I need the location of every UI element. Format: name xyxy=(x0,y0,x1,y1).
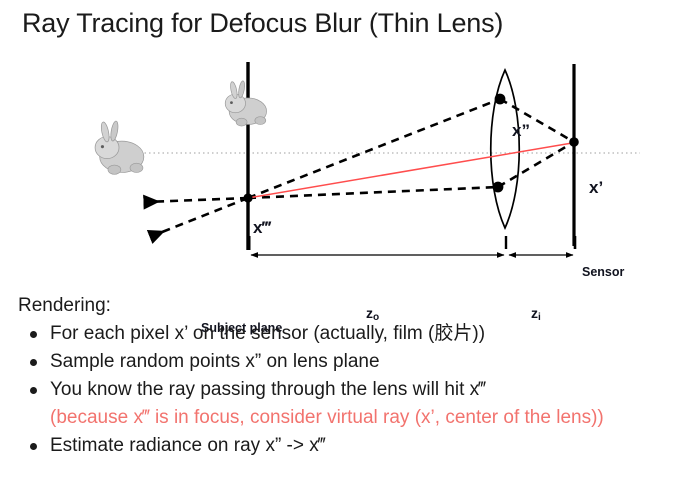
label-x-sensor: x’ xyxy=(589,178,603,198)
list-item-note: (because x‴ is in focus, consider virtua… xyxy=(50,404,678,432)
bunny-far-figure xyxy=(95,121,144,175)
x-sensor-point xyxy=(569,137,579,147)
page-title: Ray Tracing for Defocus Blur (Thin Lens) xyxy=(22,8,503,39)
list-item: You know the ray passing through the len… xyxy=(18,376,678,432)
lens-shape xyxy=(491,70,520,228)
rendering-heading: Rendering: xyxy=(18,292,678,319)
list-item-text: Estimate radiance on ray x” -> x‴ xyxy=(50,435,325,456)
rendering-steps-list: For each pixel x’ on the sensor (actuall… xyxy=(18,320,678,460)
incoming-ray-arrow-upper xyxy=(146,198,248,202)
list-item-text: For each pixel x’ on the sensor (actuall… xyxy=(50,323,485,344)
list-item: Sample random points x” on lens plane xyxy=(18,348,678,376)
x-lens-lower-point xyxy=(493,182,504,193)
slide-canvas: Ray Tracing for Defocus Blur (Thin Lens) xyxy=(0,0,685,479)
bullet-dot-icon xyxy=(30,443,37,450)
bullet-dot-icon xyxy=(30,359,37,366)
list-item-text: You know the ray passing through the len… xyxy=(50,379,486,400)
incoming-ray-arrow-lower xyxy=(152,198,248,236)
list-item: Estimate radiance on ray x” -> x‴ xyxy=(18,432,678,460)
x-object-point xyxy=(243,193,252,202)
ray-object-to-lens-upper xyxy=(248,99,500,198)
body-text-block: Rendering: For each pixel x’ on the sens… xyxy=(18,292,678,460)
bullet-dot-icon xyxy=(30,387,37,394)
list-item: For each pixel x’ on the sensor (actuall… xyxy=(18,320,678,348)
ray-object-to-lens-lower xyxy=(248,187,498,198)
label-x-lens: x” xyxy=(512,121,530,141)
bunny-focus-figure xyxy=(225,80,266,126)
label-sensor: Sensor xyxy=(582,265,624,279)
x-lens-upper-point xyxy=(495,94,506,105)
diagram-svg xyxy=(0,50,685,290)
thin-lens-ray-diagram: x‴ x” x’ Sensor Subject plane zo zi xyxy=(0,50,685,290)
bullet-dot-icon xyxy=(30,331,37,338)
list-item-text: Sample random points x” on lens plane xyxy=(50,351,380,372)
label-x-object: x‴ xyxy=(253,218,271,238)
